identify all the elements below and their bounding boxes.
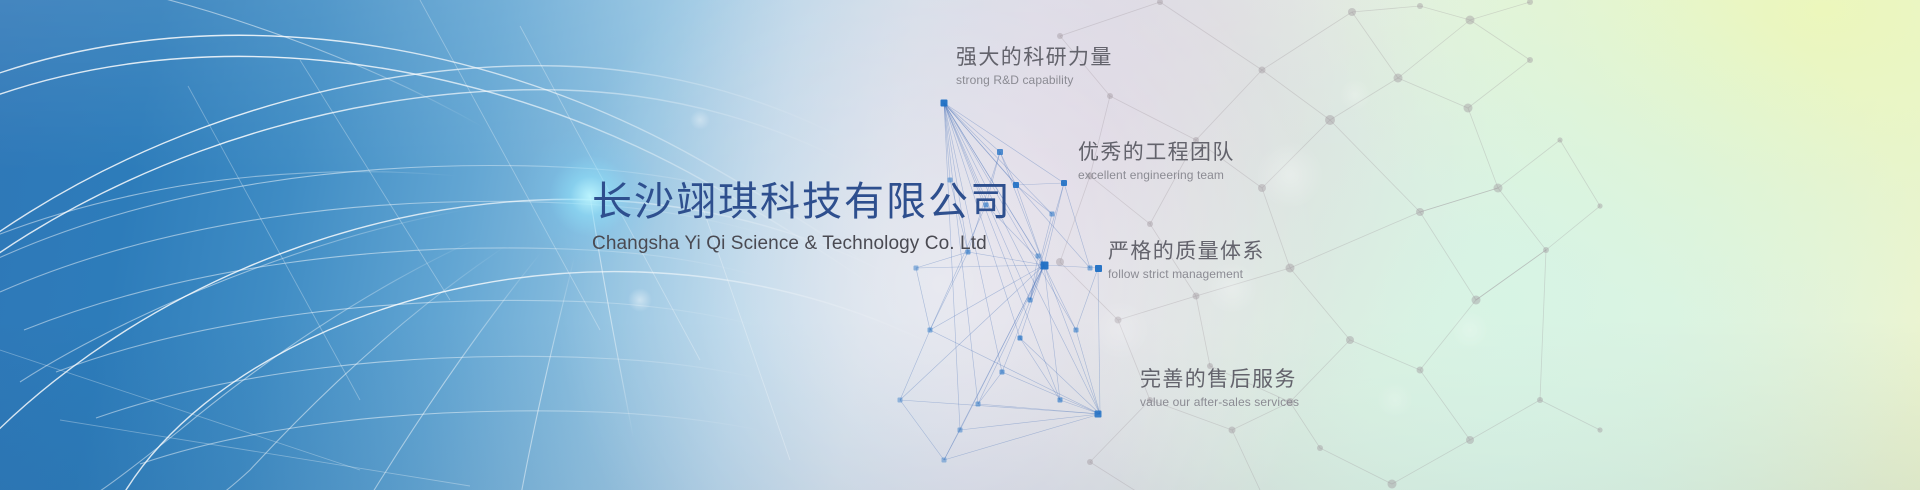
feature-label-cn: 优秀的工程团队 — [1078, 139, 1235, 165]
feature-item-quality: 严格的质量体系 follow strict management — [1108, 238, 1265, 281]
brand-block: 长沙翊琪科技有限公司 Changsha Yi Qi Science & Tech… — [592, 178, 1012, 255]
feature-item-engineering: 优秀的工程团队 excellent engineering team — [1078, 139, 1235, 182]
company-name-english: Changsha Yi Qi Science & Technology Co. … — [592, 233, 1012, 255]
feature-label-cn: 严格的质量体系 — [1108, 238, 1265, 264]
company-name-chinese: 长沙翊琪科技有限公司 — [592, 178, 1012, 227]
feature-label-cn: 强大的科研力量 — [956, 44, 1113, 70]
feature-label-en: excellent engineering team — [1078, 168, 1235, 182]
feature-label-en: value our after-sales services — [1140, 395, 1299, 409]
feature-label-en: follow strict management — [1108, 267, 1265, 281]
feature-item-rd: 强大的科研力量 strong R&D capability — [956, 44, 1113, 87]
feature-label-cn: 完善的售后服务 — [1140, 366, 1299, 392]
company-banner: 长沙翊琪科技有限公司 Changsha Yi Qi Science & Tech… — [0, 0, 1920, 490]
feature-label-en: strong R&D capability — [956, 73, 1113, 87]
feature-item-service: 完善的售后服务 value our after-sales services — [1140, 366, 1299, 409]
